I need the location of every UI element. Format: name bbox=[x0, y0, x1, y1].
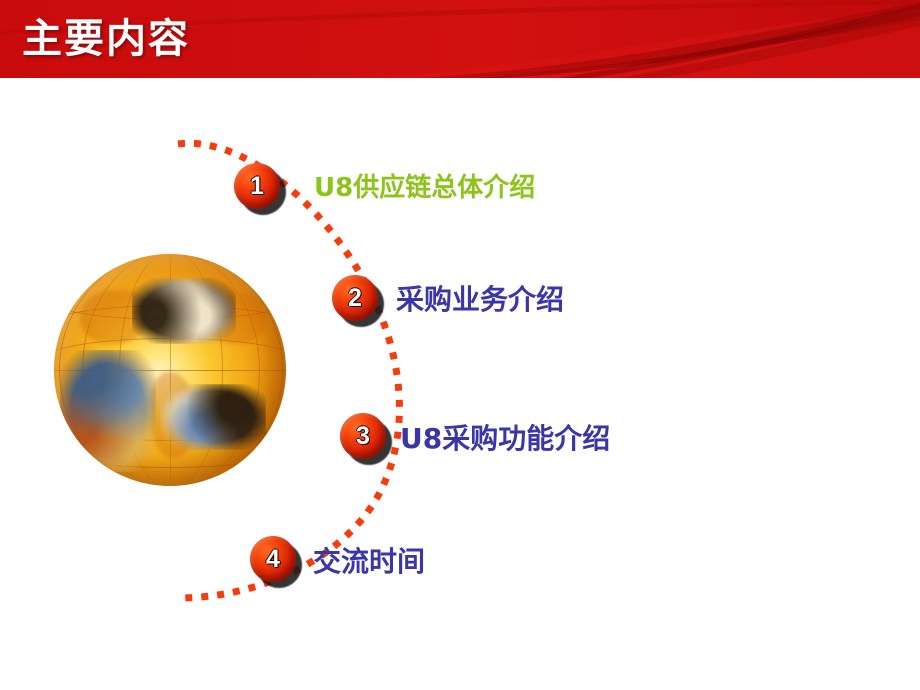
agenda-item-label-4[interactable]: 交流时间 bbox=[313, 540, 425, 580]
globe-sphere bbox=[54, 254, 286, 486]
agenda-bullet-1[interactable]: 1 bbox=[234, 163, 280, 209]
bullet-number: 4 bbox=[250, 536, 296, 582]
page-title: 主要内容 bbox=[22, 10, 190, 68]
agenda-bullet-3[interactable]: 3 bbox=[340, 413, 386, 459]
agenda-item-label-1[interactable]: U8供应链总体介绍 bbox=[314, 167, 535, 204]
globe-image bbox=[54, 254, 286, 486]
bullet-number: 3 bbox=[340, 413, 386, 459]
bullet-number: 2 bbox=[332, 275, 378, 321]
globe-photo-patch-bottom bbox=[160, 384, 266, 450]
header-banner: 主要内容 bbox=[0, 0, 920, 78]
agenda-bullet-4[interactable]: 4 bbox=[250, 536, 296, 582]
agenda-item-label-3[interactable]: U8采购功能介绍 bbox=[400, 417, 610, 457]
slide-canvas: 主要内容 1 bbox=[0, 0, 920, 690]
agenda-item-label-2[interactable]: 采购业务介绍 bbox=[396, 278, 564, 318]
globe-photo-patch-top bbox=[132, 278, 236, 344]
agenda-bullet-2[interactable]: 2 bbox=[332, 275, 378, 321]
bullet-number: 1 bbox=[234, 163, 280, 209]
globe-photo-patch-left bbox=[60, 350, 156, 472]
